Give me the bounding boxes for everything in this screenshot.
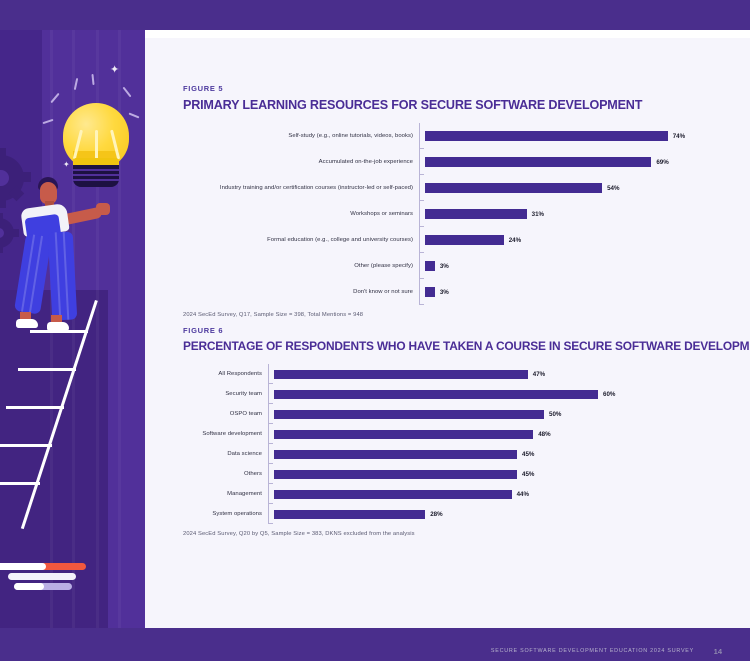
chart-axis-tick bbox=[269, 403, 273, 404]
chart-axis-tick bbox=[269, 483, 273, 484]
chart-bar-row: Formal education (e.g., college and univ… bbox=[183, 227, 713, 253]
chart-value-label: 54% bbox=[607, 185, 619, 192]
chart-value-label: 50% bbox=[549, 411, 561, 418]
chart-value-label: 45% bbox=[522, 471, 534, 478]
chart-axis bbox=[268, 364, 269, 524]
chart-bar-track: 45% bbox=[268, 450, 713, 459]
page-top-edge bbox=[145, 30, 750, 38]
chart-category-label: Don't know or not sure bbox=[183, 289, 419, 295]
chart-bar bbox=[425, 235, 504, 245]
person-shoe bbox=[16, 319, 38, 328]
figure-5: FIGURE 5 PRIMARY LEARNING RESOURCES FOR … bbox=[183, 84, 713, 318]
chart-bar-row: Other (please specify)3% bbox=[183, 253, 713, 279]
light-ray bbox=[123, 87, 132, 98]
bulb-base bbox=[73, 165, 119, 187]
illustration-panel: ✦ ✦ ✦ bbox=[0, 30, 145, 628]
document-page: FIGURE 5 PRIMARY LEARNING RESOURCES FOR … bbox=[145, 30, 750, 628]
chart-bar-track: 45% bbox=[268, 470, 713, 479]
ladder-rung bbox=[30, 330, 88, 333]
chart-bar bbox=[425, 157, 651, 167]
chart-bar bbox=[274, 450, 517, 459]
chart-bar-track: 47% bbox=[268, 370, 713, 379]
bulb-neck bbox=[74, 158, 118, 165]
chart-bar bbox=[425, 287, 435, 297]
figure-6-title: PERCENTAGE OF RESPONDENTS WHO HAVE TAKEN… bbox=[183, 339, 705, 353]
chart-category-label: Others bbox=[183, 471, 268, 477]
chart-axis-tick bbox=[420, 304, 424, 305]
figure-5-chart: Self-study (e.g., online tutorials, vide… bbox=[183, 123, 713, 305]
chart-category-label: Workshops or seminars bbox=[183, 211, 419, 217]
ladder-rung bbox=[0, 444, 52, 447]
slide-canvas: ✦ ✦ ✦ bbox=[0, 0, 750, 661]
chart-bar bbox=[274, 510, 425, 519]
chart-value-label: 69% bbox=[656, 159, 668, 166]
chart-bar-track: 44% bbox=[268, 490, 713, 499]
ladder-rung bbox=[6, 406, 64, 409]
page-number: 14 bbox=[714, 647, 722, 656]
bulb-filament bbox=[95, 130, 98, 160]
sparkle-icon: ✦ bbox=[63, 160, 70, 169]
chart-bar-track: 50% bbox=[268, 410, 713, 419]
chart-bar-track: 3% bbox=[419, 287, 713, 297]
ladder-rung bbox=[18, 368, 76, 371]
chart-bar-track: 31% bbox=[419, 209, 713, 219]
chart-bar bbox=[274, 490, 512, 499]
top-band bbox=[0, 0, 750, 30]
chart-value-label: 31% bbox=[532, 211, 544, 218]
person-leg-lower bbox=[48, 231, 78, 320]
chart-axis-tick bbox=[420, 148, 424, 149]
footer-text: SECURE SOFTWARE DEVELOPMENT EDUCATION 20… bbox=[491, 648, 694, 654]
chart-axis-tick bbox=[269, 523, 273, 524]
chart-axis-tick bbox=[269, 463, 273, 464]
chart-category-label: OSPO team bbox=[183, 411, 268, 417]
figure-5-kicker: FIGURE 5 bbox=[183, 84, 713, 93]
chart-value-label: 24% bbox=[509, 237, 521, 244]
chart-bar-row: Data science45% bbox=[183, 444, 713, 464]
chart-value-label: 47% bbox=[533, 371, 545, 378]
chart-bar-row: Don't know or not sure3% bbox=[183, 279, 713, 305]
ladder-rung bbox=[0, 482, 40, 485]
chart-category-label: All Respondents bbox=[183, 371, 268, 377]
chart-bar-track: 69% bbox=[419, 157, 713, 167]
chart-bar bbox=[274, 390, 598, 399]
chart-bar-row: Software development48% bbox=[183, 424, 713, 444]
chart-bar-track: 60% bbox=[268, 390, 713, 399]
chart-value-label: 74% bbox=[673, 133, 685, 140]
chart-bar-row: Accumulated on-the-job experience69% bbox=[183, 149, 713, 175]
chart-category-label: Industry training and/or certification c… bbox=[183, 185, 419, 191]
chart-bar-row: Management44% bbox=[183, 484, 713, 504]
chart-category-label: Accumulated on-the-job experience bbox=[183, 159, 419, 165]
chart-category-label: Data science bbox=[183, 451, 268, 457]
chart-bar bbox=[425, 183, 602, 193]
chart-axis-tick bbox=[420, 252, 424, 253]
chart-bar-row: System operations28% bbox=[183, 504, 713, 524]
chart-category-label: Self-study (e.g., online tutorials, vide… bbox=[183, 133, 419, 139]
figure-5-title: PRIMARY LEARNING RESOURCES FOR SECURE SO… bbox=[183, 97, 705, 112]
chart-bar-row: Self-study (e.g., online tutorials, vide… bbox=[183, 123, 713, 149]
chart-value-label: 48% bbox=[538, 431, 550, 438]
chart-bar bbox=[425, 131, 668, 141]
chart-category-label: Security team bbox=[183, 391, 268, 397]
chart-bar bbox=[274, 370, 528, 379]
chart-bar-track: 54% bbox=[419, 183, 713, 193]
light-ray bbox=[91, 74, 94, 85]
figure-6: FIGURE 6 PERCENTAGE OF RESPONDENTS WHO H… bbox=[183, 326, 713, 537]
chart-axis-tick bbox=[420, 174, 424, 175]
chart-axis-tick bbox=[269, 443, 273, 444]
chart-category-label: System operations bbox=[183, 511, 268, 517]
chart-category-label: Software development bbox=[183, 431, 268, 437]
chart-value-label: 44% bbox=[517, 491, 529, 498]
chart-category-label: Other (please specify) bbox=[183, 263, 419, 269]
chart-bar-row: Others45% bbox=[183, 464, 713, 484]
chart-axis-tick bbox=[269, 503, 273, 504]
chart-category-label: Formal education (e.g., college and univ… bbox=[183, 237, 419, 243]
chart-bar-track: 28% bbox=[268, 510, 713, 519]
sparkle-icon: ✦ bbox=[110, 66, 119, 75]
bottom-band bbox=[0, 628, 750, 661]
chart-category-label: Management bbox=[183, 491, 268, 497]
figure-6-source: 2024 SecEd Survey, Q20 by Q5, Sample Siz… bbox=[183, 531, 713, 537]
chart-axis-tick bbox=[269, 423, 273, 424]
chart-bar bbox=[274, 410, 544, 419]
chart-bar-track: 48% bbox=[268, 430, 713, 439]
chart-value-label: 3% bbox=[440, 289, 449, 296]
chart-value-label: 60% bbox=[603, 391, 615, 398]
chart-bar-track: 3% bbox=[419, 261, 713, 271]
chart-bar-row: OSPO team50% bbox=[183, 404, 713, 424]
person-hand bbox=[96, 203, 110, 215]
chart-bar-track: 74% bbox=[419, 131, 713, 141]
progress-bar-white-3 bbox=[14, 583, 44, 590]
progress-bar-white bbox=[0, 563, 46, 570]
chart-value-label: 28% bbox=[430, 511, 442, 518]
chart-value-label: 45% bbox=[522, 451, 534, 458]
chart-bar bbox=[274, 430, 533, 439]
chart-axis-tick bbox=[420, 226, 424, 227]
figure-5-source: 2024 SecEd Survey, Q17, Sample Size = 39… bbox=[183, 312, 713, 318]
chart-bar bbox=[425, 261, 435, 271]
chart-bar-track: 24% bbox=[419, 235, 713, 245]
chart-axis-tick bbox=[420, 200, 424, 201]
chart-bar bbox=[274, 470, 517, 479]
figure-6-kicker: FIGURE 6 bbox=[183, 326, 713, 335]
chart-bar-row: Workshops or seminars31% bbox=[183, 201, 713, 227]
chart-axis-tick bbox=[269, 383, 273, 384]
chart-bar-row: All Respondents47% bbox=[183, 364, 713, 384]
figure-6-chart: All Respondents47%Security team60%OSPO t… bbox=[183, 364, 713, 524]
chart-axis-tick bbox=[420, 278, 424, 279]
chart-bar-row: Industry training and/or certification c… bbox=[183, 175, 713, 201]
progress-bar-white-2 bbox=[8, 573, 76, 580]
chart-bar bbox=[425, 209, 527, 219]
chart-value-label: 3% bbox=[440, 263, 449, 270]
light-ray bbox=[129, 113, 140, 119]
chart-bar-row: Security team60% bbox=[183, 384, 713, 404]
